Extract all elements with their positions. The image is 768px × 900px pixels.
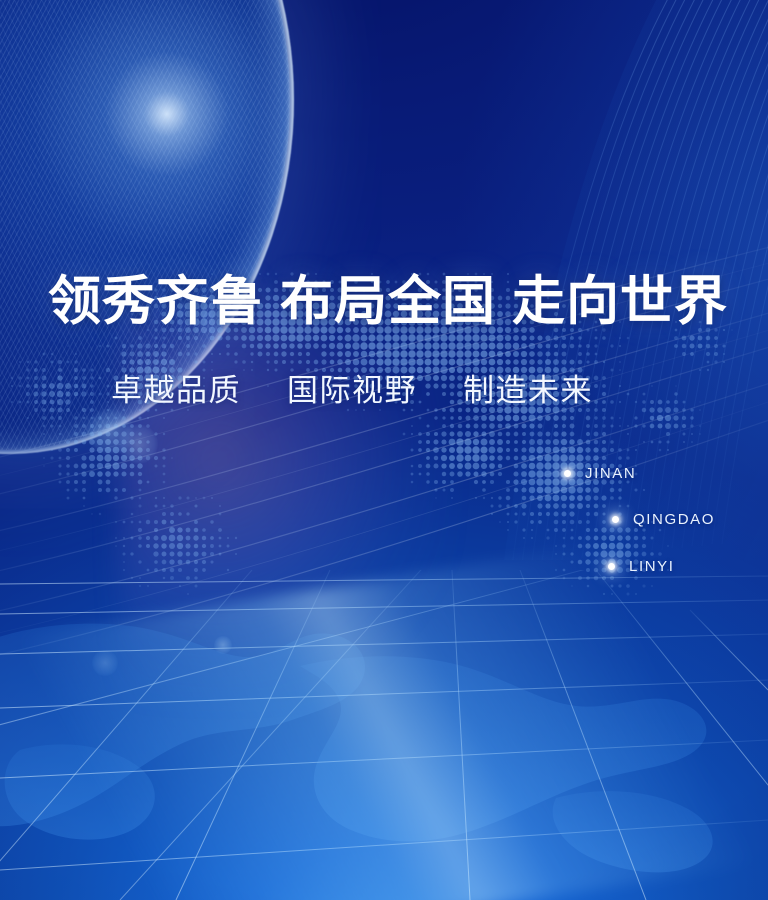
- subtitle-part-3: 制造未来: [463, 373, 593, 408]
- hero-banner: 领秀齐鲁布局全国走向世界 卓越品质国际视野制造未来 JINAN QINGDAO …: [0, 0, 768, 900]
- city-dot-icon: [612, 516, 619, 523]
- banner-content: 领秀齐鲁布局全国走向世界 卓越品质国际视野制造未来 JINAN QINGDAO …: [0, 0, 768, 900]
- city-label-jinan: JINAN: [585, 465, 636, 482]
- subtitle-part-1: 卓越品质: [111, 373, 241, 408]
- city-label-qingdao: QINGDAO: [633, 511, 715, 528]
- city-marker-linyi: LINYI: [608, 558, 675, 575]
- page-title: 领秀齐鲁布局全国走向世界: [48, 271, 728, 333]
- city-marker-qingdao: QINGDAO: [612, 511, 715, 528]
- subtitle-part-2: 国际视野: [287, 373, 417, 408]
- city-marker-jinan: JINAN: [564, 465, 636, 482]
- page-subtitle: 卓越品质国际视野制造未来: [111, 372, 593, 410]
- city-dot-icon: [608, 563, 615, 570]
- city-label-linyi: LINYI: [629, 558, 675, 575]
- city-dot-icon: [564, 470, 571, 477]
- headline-part-1: 领秀齐鲁: [48, 273, 264, 331]
- headline-part-3: 走向世界: [512, 273, 728, 331]
- headline-part-2: 布局全国: [280, 273, 496, 331]
